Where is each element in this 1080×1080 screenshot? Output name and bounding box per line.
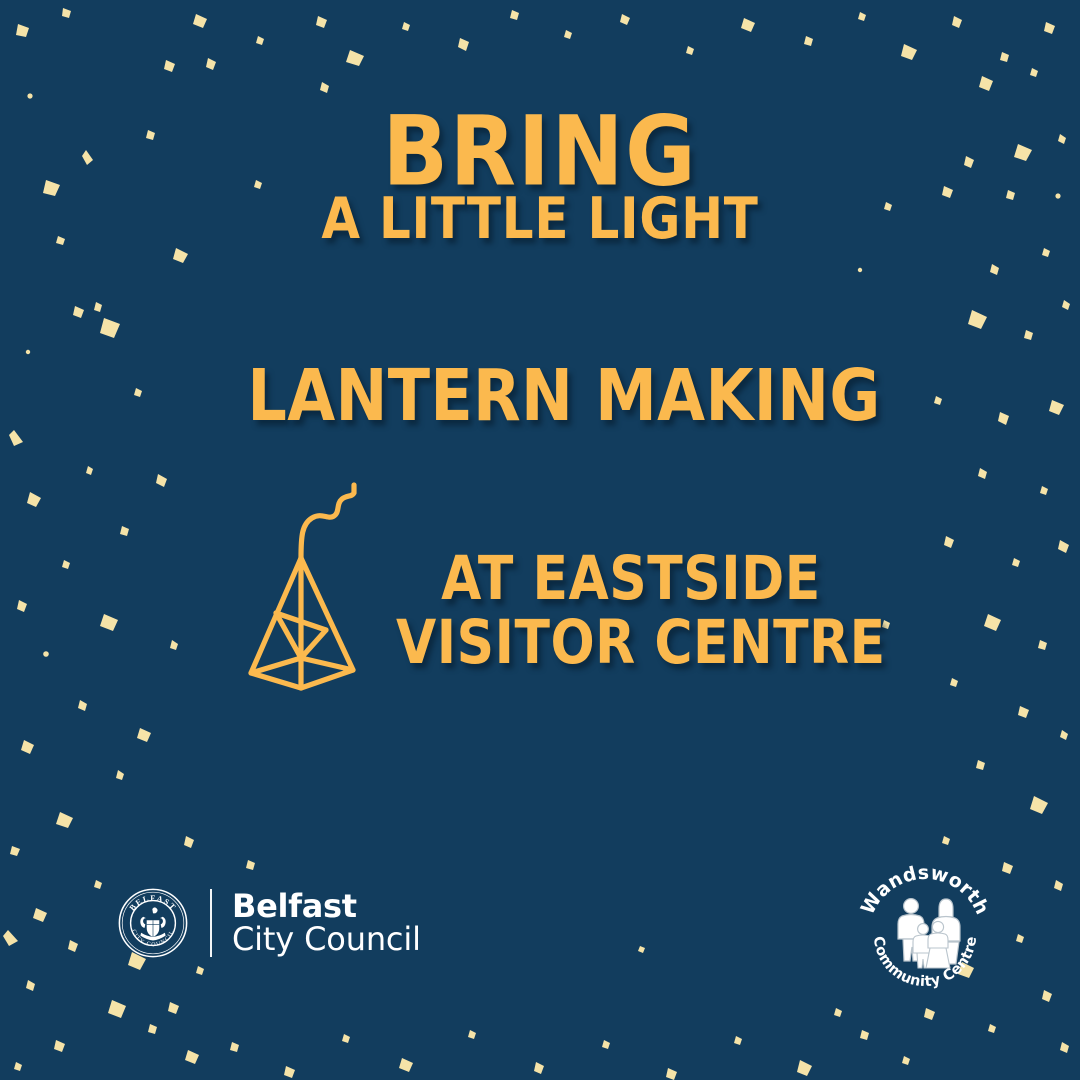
- belfast-wordmark-line-1: Belfast: [232, 890, 421, 923]
- lantern-illustration: [228, 458, 388, 698]
- logo-divider: [210, 889, 212, 957]
- event-title: LANTERN MAKING: [24, 360, 1080, 431]
- venue-block: AT EASTSIDE VISITOR CENTRE: [396, 548, 866, 676]
- belfast-wordmark: Belfast City Council: [232, 890, 421, 955]
- page-subtitle: A LITTLE LIGHT: [0, 190, 1080, 247]
- wandsworth-community-centre-logo: Wandsworth Community Centre: [855, 865, 995, 995]
- venue-line-2: VISITOR CENTRE: [396, 612, 866, 676]
- wandsworth-top-text: Wandsworth: [857, 865, 994, 918]
- venue-line-1: AT EASTSIDE: [396, 548, 866, 612]
- belfast-wordmark-line-2: City Council: [232, 923, 421, 956]
- poster-canvas: BRING A LITTLE LIGHT LANTERN MAKING AT E…: [0, 0, 1080, 1080]
- belfast-crest-icon: BELFAST CITY COUNCIL: [118, 888, 188, 958]
- family-group-icon: [898, 899, 960, 968]
- belfast-city-council-logo: BELFAST CITY COUNCIL Belfast City Counci…: [118, 888, 421, 958]
- svg-text:Wandsworth: Wandsworth: [857, 865, 994, 918]
